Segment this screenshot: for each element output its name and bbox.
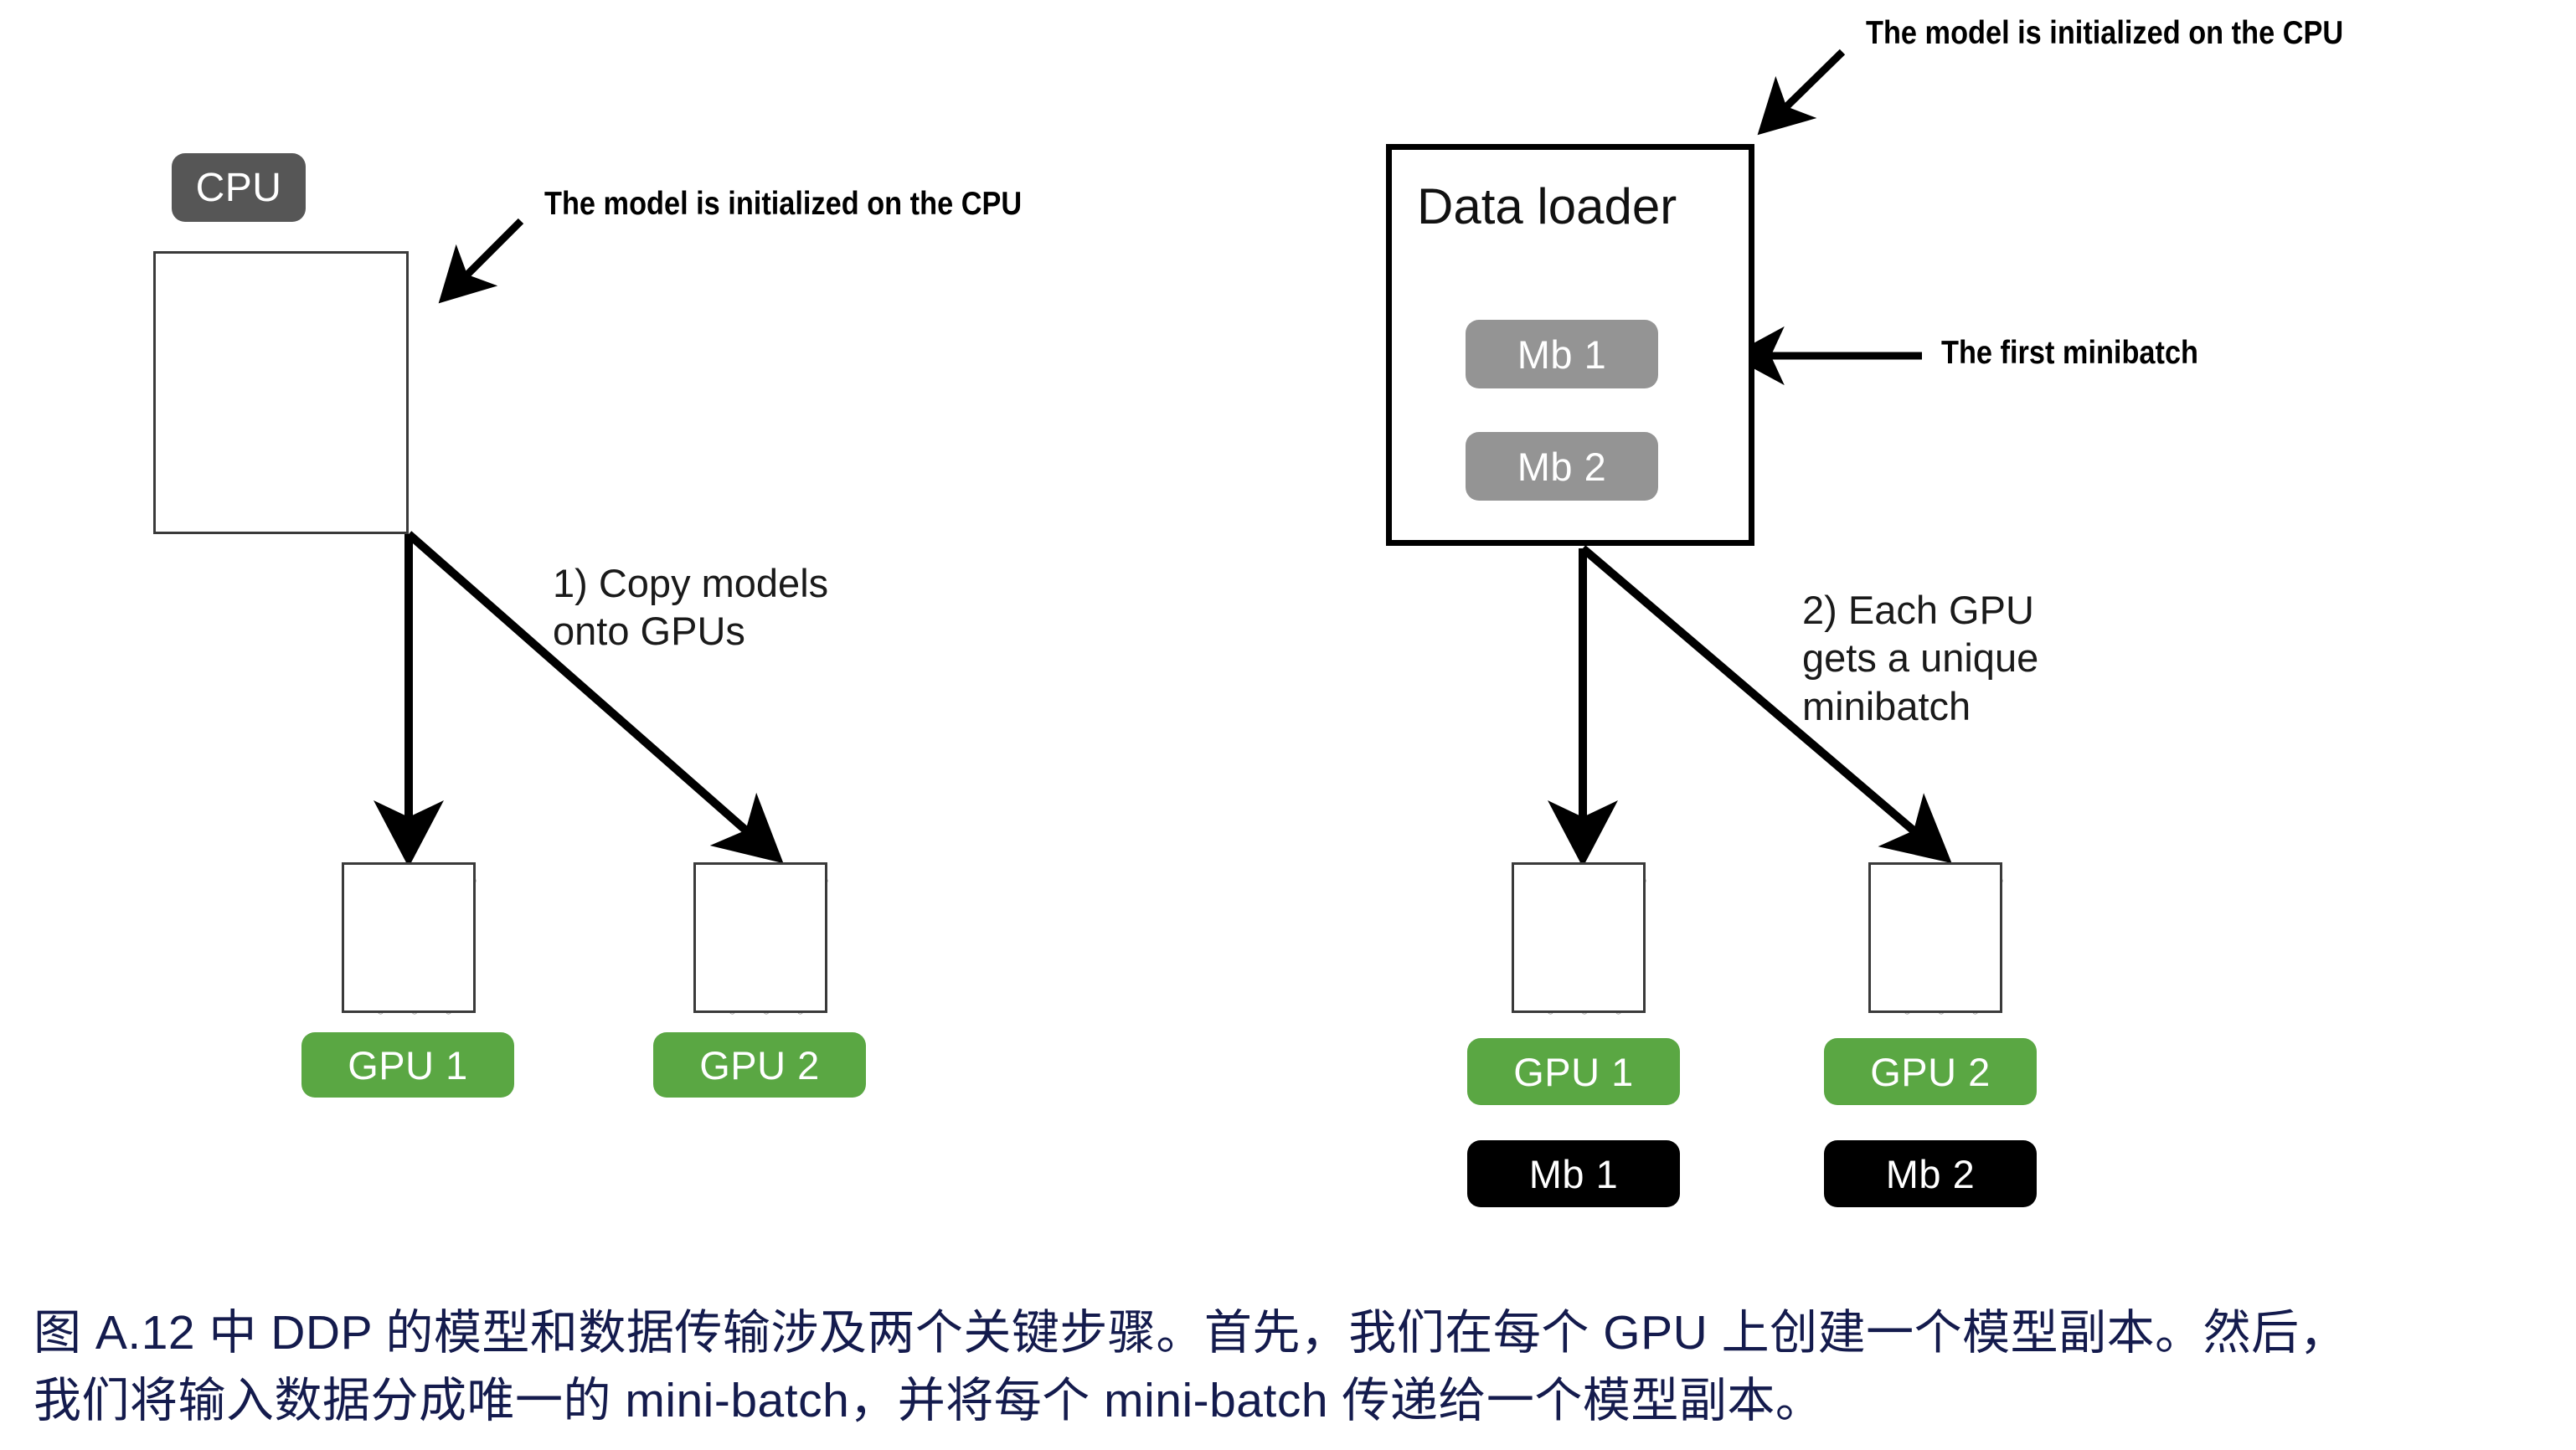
cpu-init-annotation-right: The model is initialized on the CPU: [1866, 15, 2343, 52]
annotation-arrow-left: [444, 221, 521, 298]
cpu-model-box: [153, 251, 409, 534]
diagram-vector-layer: [0, 0, 2576, 1450]
step-2-dispatch-text: 2) Each GPU gets a unique minibatch: [1802, 586, 2038, 730]
gpu2-badge-right: GPU 2: [1824, 1038, 2037, 1105]
minibatch-2-chip: Mb 2: [1466, 432, 1658, 501]
figure-caption: 图 A.12 中 DDP 的模型和数据传输涉及两个关键步骤。首先，我们在每个 G…: [33, 1299, 2554, 1435]
diagram-canvas: CPU The model is initialized on the CPU …: [0, 0, 2576, 1450]
gpu1-badge-left: GPU 1: [301, 1032, 514, 1098]
caption-line-2: 我们将输入数据分成唯一的 mini-batch，并将每个 mini-batch …: [33, 1367, 2554, 1435]
gpu2-model-box-right: [1868, 862, 2002, 1013]
minibatch-1-chip: Mb 1: [1466, 320, 1658, 388]
data-loader-title: Data loader: [1417, 177, 1677, 235]
gpu2-assigned-minibatch: Mb 2: [1824, 1140, 2037, 1207]
cpu-label: CPU: [172, 153, 306, 222]
gpu1-assigned-minibatch: Mb 1: [1467, 1140, 1680, 1207]
gpu1-badge-right: GPU 1: [1467, 1038, 1680, 1105]
step-1-copy-models-text: 1) Copy models onto GPUs: [553, 559, 828, 656]
gpu2-model-box-left: [693, 862, 827, 1013]
first-minibatch-annotation: The first minibatch: [1941, 335, 2198, 372]
annotation-arrow-right: [1763, 52, 1842, 130]
caption-line-1: 图 A.12 中 DDP 的模型和数据传输涉及两个关键步骤。首先，我们在每个 G…: [33, 1299, 2554, 1367]
gpu1-model-box-right: [1512, 862, 1646, 1013]
cpu-init-annotation-left: The model is initialized on the CPU: [544, 186, 1022, 223]
gpu2-badge-left: GPU 2: [653, 1032, 866, 1098]
gpu1-model-box-left: [342, 862, 476, 1013]
